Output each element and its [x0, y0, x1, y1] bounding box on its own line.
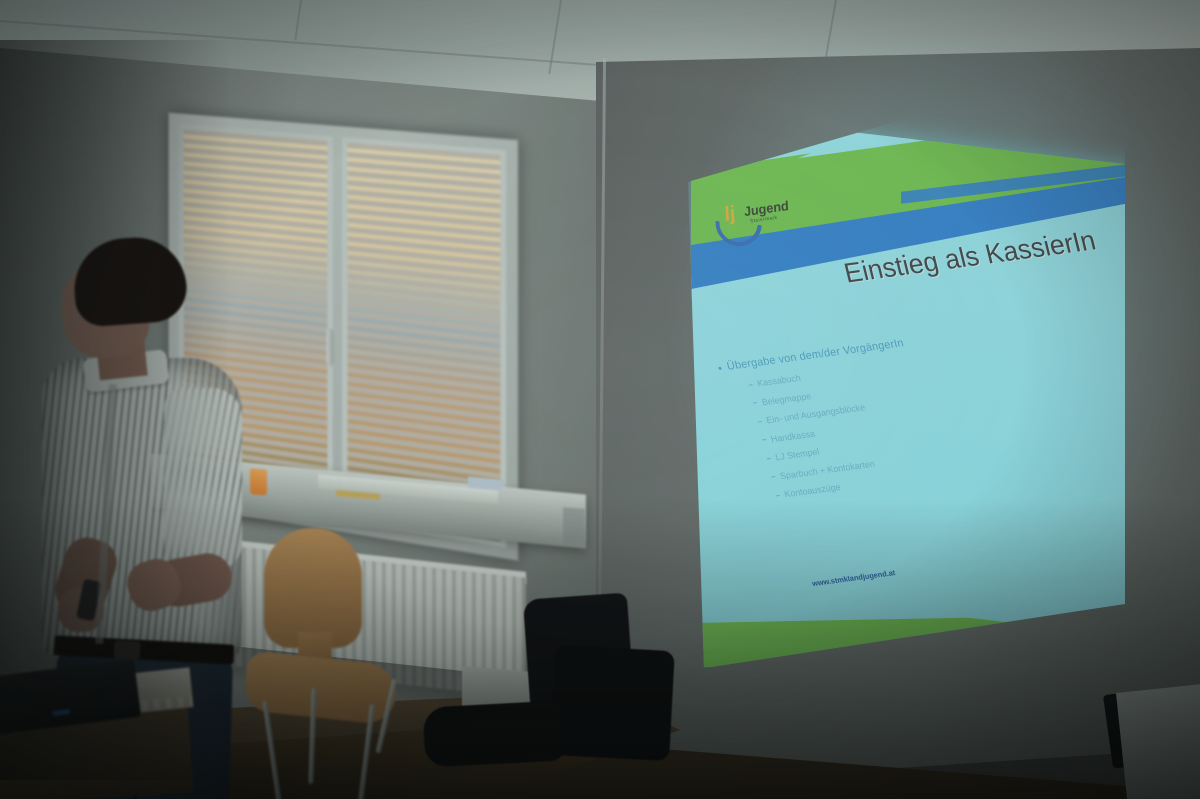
bullet-dash-icon	[748, 384, 752, 386]
bullet-level2-text: Handkassa	[770, 428, 816, 444]
slide-bullet-list: Übergabe von dem/der VorgängerIn Kassabu…	[717, 310, 1142, 513]
wall-socket	[563, 507, 585, 545]
left-shadow	[0, 40, 230, 780]
bullet-level2-text: Kassabuch	[756, 373, 802, 389]
wall-panel	[1116, 684, 1200, 799]
bullet-dash-icon	[767, 457, 771, 459]
bullet-dash-icon	[753, 402, 757, 404]
bullet-dash-icon	[771, 476, 775, 478]
equipment-bag	[423, 700, 566, 767]
window-handle[interactable]	[326, 328, 333, 366]
wooden-chair	[246, 528, 396, 790]
photo-scene: lj Jugend Steiermark Einstieg als Kassie…	[0, 0, 1200, 799]
bullet-level2-text: Sparbuch + Kontokarten	[779, 458, 876, 481]
bullet-level2-text: Belegmappe	[761, 390, 812, 407]
chair-backrest	[264, 528, 362, 648]
bullet-level2-text: Kontoauszüge	[783, 482, 841, 500]
bullet-dash-icon	[758, 421, 762, 423]
slide-footer-url: www.stmklandjugend.at	[811, 568, 896, 588]
bullet-dash-icon	[776, 494, 780, 496]
bullet-level2-text: LJ Stempel	[774, 446, 820, 462]
bullet-dot-icon	[718, 366, 722, 369]
bullet-dash-icon	[762, 439, 766, 441]
equipment-bag	[549, 645, 675, 761]
ceiling-grid-line	[294, 0, 302, 40]
